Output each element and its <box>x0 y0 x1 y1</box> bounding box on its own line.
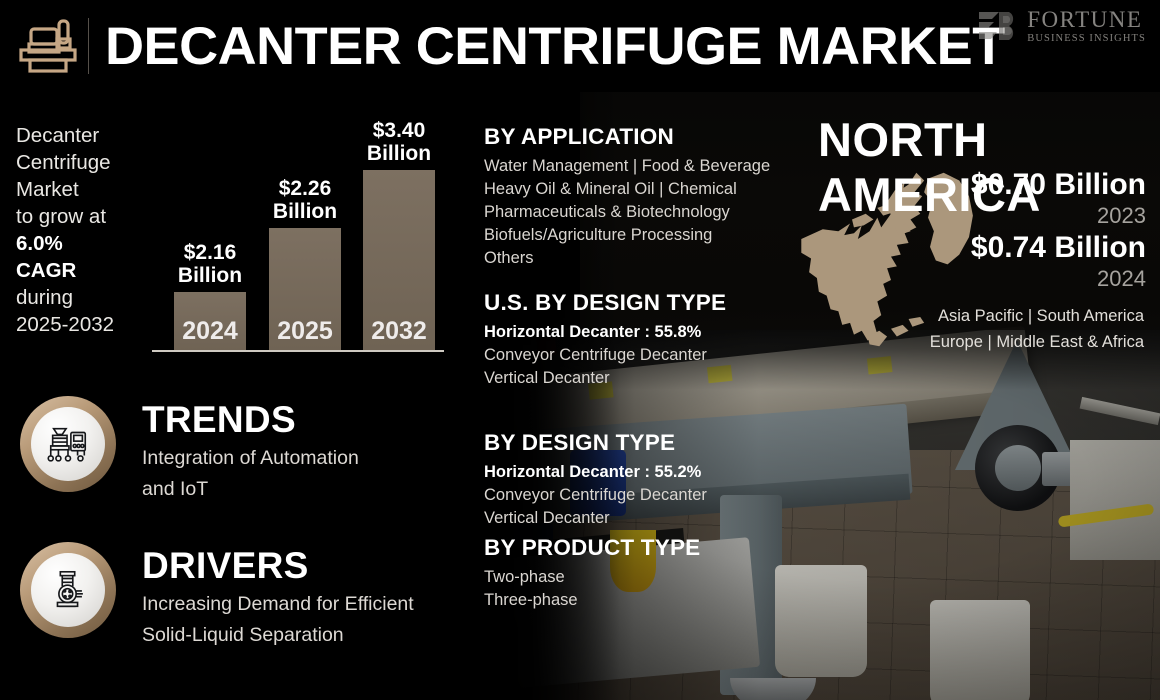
drivers-icon-ring <box>20 542 116 638</box>
bar-value-label: $2.16Billion <box>178 241 242 287</box>
segment-item: Conveyor Centrifuge Decanter <box>484 484 707 507</box>
fortune-business-insights-logo: FORTUNE BUSINESS INSIGHTS <box>975 8 1146 45</box>
drivers-line-2: Solid-Liquid Separation <box>142 620 414 651</box>
bar-value-label: $3.40Billion <box>367 119 431 165</box>
segment-heading: BY APPLICATION <box>484 124 770 150</box>
brand-tagline: BUSINESS INSIGHTS <box>1027 34 1146 45</box>
segment-heading: U.S. BY DESIGN TYPE <box>484 290 726 316</box>
segment-item: Biofuels/Agriculture Processing <box>484 224 770 247</box>
drivers-line-1: Increasing Demand for Efficient <box>142 589 414 620</box>
trends-icon-ring <box>20 396 116 492</box>
segment-item: Conveyor Centrifuge Decanter <box>484 344 726 367</box>
market-size-bar-chart: $2.16Billion 2024 $2.26Billion 2025 $3.4… <box>152 112 444 352</box>
infographic-canvas: DECANTER CENTRIFUGE MARKET FORTUNE BUSIN… <box>0 0 1160 700</box>
page-title: DECANTER CENTRIFUGE MARKET <box>105 16 1005 77</box>
drivers-block: DRIVERS Increasing Demand for Efficient … <box>20 542 414 651</box>
summary-line-4: to grow at <box>16 203 156 230</box>
drivers-text: DRIVERS Increasing Demand for Efficient … <box>142 542 414 651</box>
segment-highlight: Horizontal Decanter : 55.2% <box>484 461 707 484</box>
segment-item: Vertical Decanter <box>484 507 707 530</box>
segment-item: Others <box>484 247 770 270</box>
trends-block: TRENDS Integration of Automation and IoT <box>20 396 359 505</box>
centrifuge-separator-icon <box>31 553 105 627</box>
bar-value-label: $2.26Billion <box>273 177 337 223</box>
segment-item: Pharmaceuticals & Biotechnology <box>484 201 770 224</box>
segment-item: Three-phase <box>484 589 700 612</box>
summary-line-3: Market <box>16 176 156 203</box>
decanter-machine-icon <box>12 17 84 75</box>
segment-by-design-type: BY DESIGN TYPE Horizontal Decanter : 55.… <box>484 430 707 530</box>
chart-bar-group: $3.40Billion 2032 <box>363 170 435 350</box>
trends-line-1: Integration of Automation <box>142 443 359 474</box>
fb-monogram-icon <box>975 8 1019 44</box>
segment-us-by-design-type: U.S. BY DESIGN TYPE Horizontal Decanter … <box>484 290 726 390</box>
market-summary: Decanter Centrifuge Market to grow at 6.… <box>16 122 156 338</box>
segment-item: Two-phase <box>484 566 700 589</box>
summary-line-2: Centrifuge <box>16 149 156 176</box>
segment-by-application: BY APPLICATION Water Management | Food &… <box>484 124 770 270</box>
region-figure-2023: $0.70 Billion 2023 <box>971 168 1146 229</box>
summary-line-1: Decanter <box>16 122 156 149</box>
drivers-heading: DRIVERS <box>142 546 414 586</box>
chart-bar-group: $2.16Billion 2024 <box>174 292 246 350</box>
trends-heading: TRENDS <box>142 400 359 440</box>
segment-heading: BY DESIGN TYPE <box>484 430 707 456</box>
segment-highlight: Horizontal Decanter : 55.8% <box>484 321 726 344</box>
bar-year-label: 2025 <box>277 317 333 346</box>
region-value: $0.74 Billion <box>971 231 1146 265</box>
trends-line-2: and IoT <box>142 474 359 505</box>
region-figure-2024: $0.74 Billion 2024 <box>971 231 1146 292</box>
region-value: $0.70 Billion <box>971 168 1146 202</box>
region-year: 2023 <box>971 202 1146 229</box>
forecast-period: 2025-2032 <box>16 311 156 338</box>
trends-text: TRENDS Integration of Automation and IoT <box>142 396 359 505</box>
automation-machine-icon <box>31 407 105 481</box>
chart-bar-group: $2.26Billion 2025 <box>269 228 341 350</box>
bar-year-label: 2032 <box>371 317 427 346</box>
segment-by-product-type: BY PRODUCT TYPE Two-phase Three-phase <box>484 535 700 612</box>
bar-year-label: 2024 <box>182 317 238 346</box>
header-divider <box>88 18 89 74</box>
other-regions-line-2: Europe | Middle East & Africa <box>930 329 1144 355</box>
chart-baseline-axis <box>152 350 444 352</box>
cagr-value: 6.0% <box>16 230 156 257</box>
segment-heading: BY PRODUCT TYPE <box>484 535 700 561</box>
brand-name: FORTUNE <box>1027 8 1146 31</box>
summary-line-5: during <box>16 284 156 311</box>
other-regions-line-1: Asia Pacific | South America <box>930 303 1144 329</box>
segment-item: Vertical Decanter <box>484 367 726 390</box>
cagr-label: CAGR <box>16 257 156 284</box>
segment-item: Heavy Oil & Mineral Oil | Chemical <box>484 178 770 201</box>
segment-item: Water Management | Food & Beverage <box>484 155 770 178</box>
region-year: 2024 <box>971 265 1146 292</box>
header: DECANTER CENTRIFUGE MARKET FORTUNE BUSIN… <box>0 0 1160 92</box>
other-regions: Asia Pacific | South America Europe | Mi… <box>930 303 1144 355</box>
